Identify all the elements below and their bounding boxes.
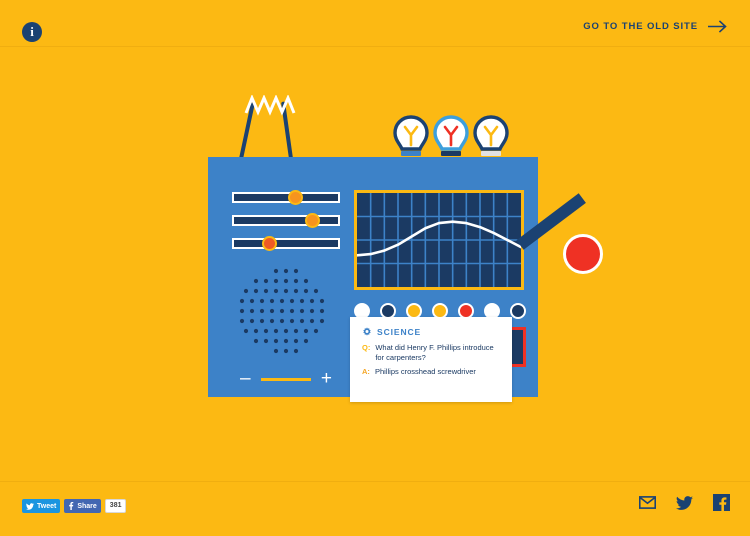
oscilloscope-screen <box>354 190 524 290</box>
share-count-badge: 381 <box>105 499 127 513</box>
tweet-button-label: Tweet <box>37 503 56 510</box>
lamp-button-7[interactable] <box>510 303 526 319</box>
trivia-card: SCIENCE Q: What did Henry F. Phillips in… <box>350 317 512 402</box>
lightning-bolt-icon <box>244 95 296 117</box>
tweet-button[interactable]: Tweet <box>22 499 60 513</box>
answer-tag: A: <box>362 367 370 377</box>
facebook-f-icon <box>68 502 74 510</box>
go-to-old-site-label: GO TO THE OLD SITE <box>583 21 698 32</box>
waveform-chart <box>357 193 521 287</box>
volume-control[interactable]: – + <box>240 372 332 386</box>
page-root: i GO TO THE OLD SITE <box>0 0 750 536</box>
question-text: What did Henry F. Phillips introduce for… <box>375 343 500 363</box>
slider-track <box>234 194 338 201</box>
slider-2[interactable] <box>232 215 340 226</box>
slider-1[interactable] <box>232 192 340 203</box>
card-answer-row: A: Phillips crosshead screwdriver <box>362 367 500 377</box>
question-tag: Q: <box>362 343 370 363</box>
social-icon-group <box>639 494 730 511</box>
red-lever-knob[interactable] <box>563 234 603 274</box>
arrow-right-icon <box>708 20 728 33</box>
volume-plus-icon[interactable]: + <box>321 372 332 386</box>
speaker-grille-icon <box>238 265 330 357</box>
slider-knob[interactable] <box>288 190 303 205</box>
slider-knob[interactable] <box>262 236 277 251</box>
slider-knob[interactable] <box>305 213 320 228</box>
answer-text: Phillips crosshead screwdriver <box>375 367 476 377</box>
volume-bar[interactable] <box>261 378 311 381</box>
illustration-stage: – + <box>0 47 750 481</box>
go-to-old-site-link[interactable]: GO TO THE OLD SITE <box>583 20 728 33</box>
card-question-row: Q: What did Henry F. Phillips introduce … <box>362 343 500 363</box>
slider-track <box>234 240 338 247</box>
card-category: SCIENCE <box>362 327 500 337</box>
facebook-share-button[interactable]: Share <box>64 499 100 513</box>
facebook-share-label: Share <box>77 503 96 510</box>
twitter-bird-icon <box>26 503 34 510</box>
email-icon[interactable] <box>639 496 656 509</box>
volume-minus-icon[interactable]: – <box>240 372 251 386</box>
site-header: i GO TO THE OLD SITE <box>0 0 750 47</box>
card-category-label: SCIENCE <box>377 327 421 337</box>
share-button-group: Tweet Share 381 <box>22 499 126 513</box>
gear-icon <box>362 327 372 337</box>
slider-track <box>234 217 338 224</box>
twitter-icon[interactable] <box>676 496 693 510</box>
facebook-icon[interactable] <box>713 494 730 511</box>
info-icon[interactable]: i <box>22 22 42 42</box>
slider-3[interactable] <box>232 238 340 249</box>
